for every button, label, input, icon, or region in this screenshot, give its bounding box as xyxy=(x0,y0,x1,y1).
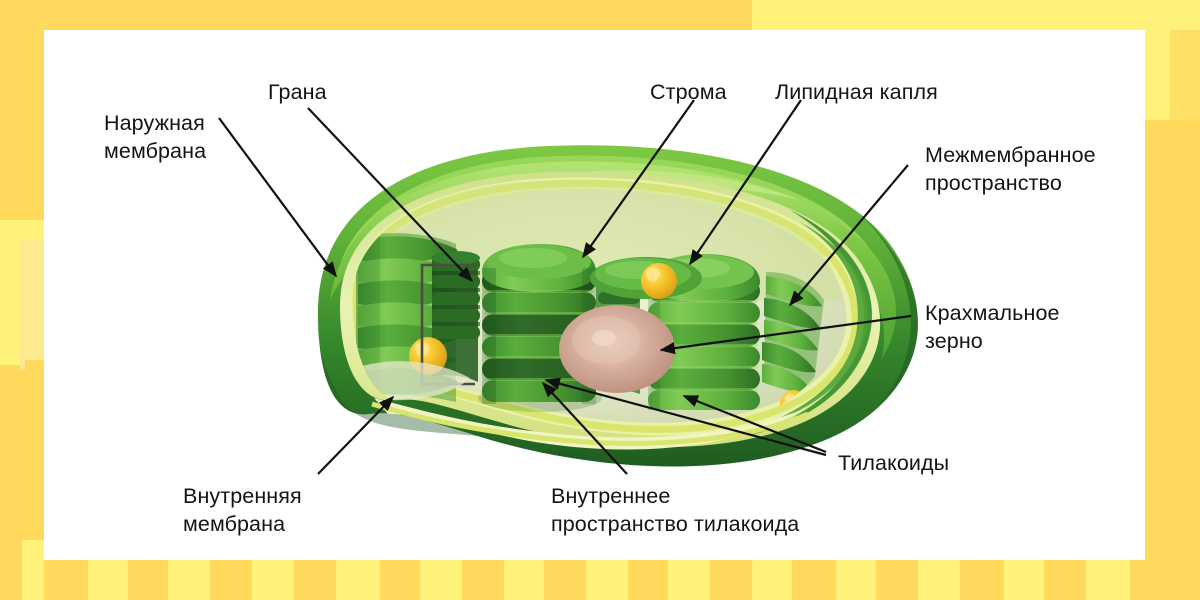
label-inner-membrane: Внутренняя мембрана xyxy=(183,483,302,539)
figure-canvas: Наружная мембрана Грана Строма Липидная … xyxy=(0,0,1200,600)
leader-outer-membrane xyxy=(219,118,336,276)
label-thylakoid-lumen: Внутреннее пространство тилакоида xyxy=(551,483,799,539)
label-thylakoids: Тилакоиды xyxy=(838,450,949,478)
label-granum: Грана xyxy=(268,79,327,107)
label-stroma: Строма xyxy=(650,79,727,107)
starch-grain xyxy=(559,305,675,393)
label-outer-membrane: Наружная мембрана xyxy=(104,110,206,166)
lipid-droplet-top xyxy=(641,263,677,299)
label-intermembrane-space: Межмембранное пространство xyxy=(925,142,1096,198)
label-lipid-droplet: Липидная капля xyxy=(775,79,938,107)
label-starch-grain: Крахмальное зерно xyxy=(925,300,1060,356)
